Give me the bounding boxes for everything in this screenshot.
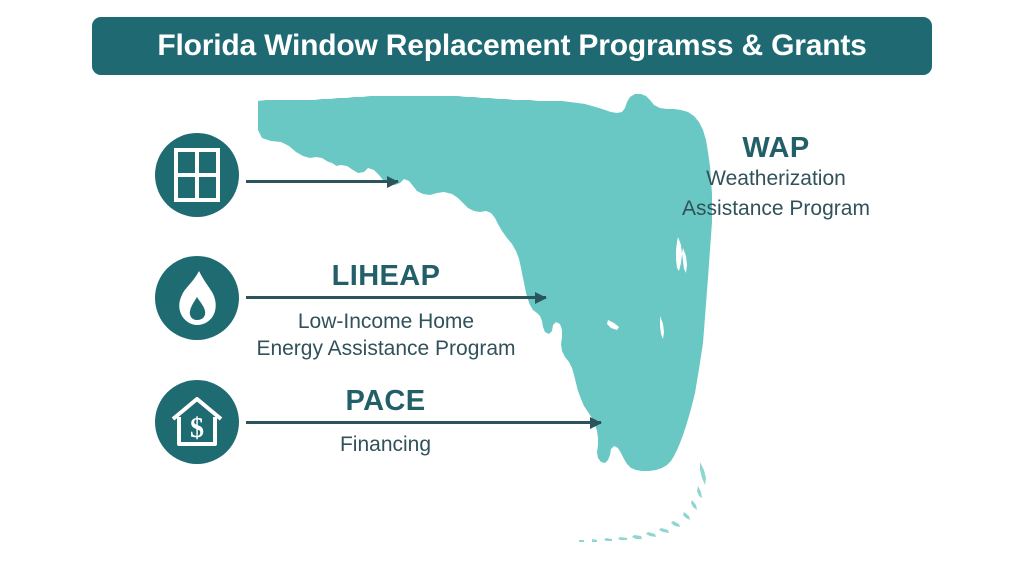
program-description-wap-line1: Weatherization (646, 166, 906, 192)
infographic-canvas: Florida Window Replacement Programss & G… (0, 0, 1024, 580)
florida-keys (579, 462, 706, 542)
program-label-liheap: LIHEAP Low-Income Home Energy Assistance… (231, 261, 541, 362)
house-dollar-icon: $ (171, 397, 223, 447)
program-description-liheap-line2: Energy Assistance Program (231, 336, 541, 362)
florida-coastal-detail (607, 237, 687, 339)
flame-icon (174, 270, 220, 326)
program-acronym-wap: WAP (646, 133, 906, 163)
program-icon-liheap[interactable] (155, 256, 239, 340)
window-icon (174, 148, 220, 202)
panhandle-barrier-islands (284, 154, 393, 192)
connector-arrow-wap (246, 180, 398, 183)
program-label-wap: WAP Weatherization Assistance Program (646, 133, 906, 222)
header-bar: Florida Window Replacement Programss & G… (92, 17, 932, 75)
svg-text:$: $ (190, 413, 204, 444)
program-acronym-liheap: LIHEAP (231, 261, 541, 291)
program-description-wap-line2: Assistance Program (646, 196, 906, 222)
program-label-pace: PACE Financing (278, 386, 493, 459)
program-description-pace-line1: Financing (278, 432, 493, 458)
program-acronym-pace: PACE (278, 386, 493, 416)
program-description-liheap-line1: Low-Income Home (231, 309, 541, 335)
program-icon-wap[interactable] (155, 133, 239, 217)
program-icon-pace[interactable]: $ (155, 380, 239, 464)
south-florida-bays (625, 466, 666, 486)
page-title: Florida Window Replacement Programss & G… (157, 29, 866, 63)
